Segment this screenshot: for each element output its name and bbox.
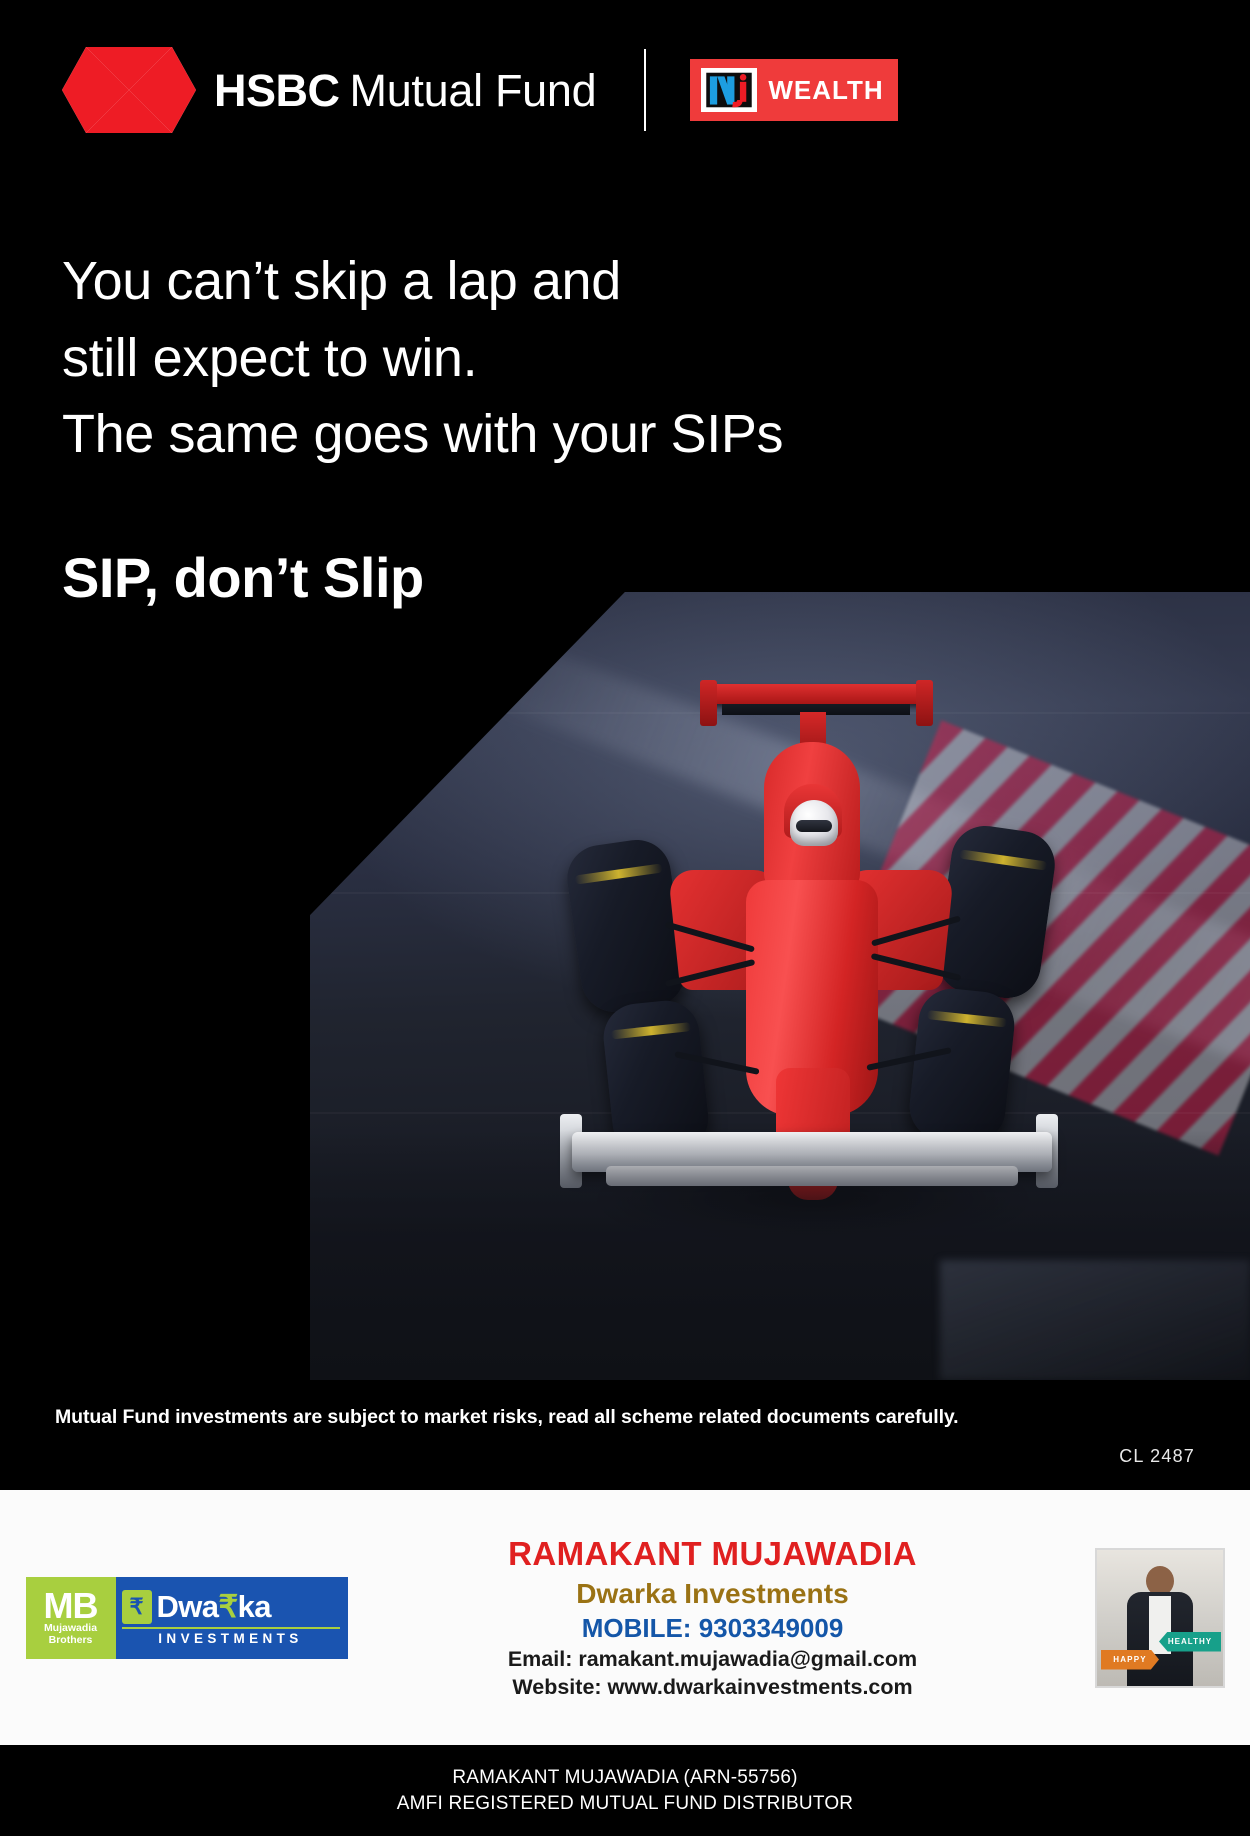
- headline-line-3: The same goes with your SIPs: [62, 396, 982, 473]
- headline-line-1: You can’t skip a lap and: [62, 243, 982, 320]
- headline-line-2: still expect to win.: [62, 320, 982, 397]
- mb-sub-line-2: Brothers: [49, 1634, 93, 1646]
- advisor-photo-slot: HAPPY HEALTHY: [1070, 1548, 1250, 1688]
- nj-wealth-logo: WEALTH: [690, 59, 897, 121]
- front-right-tyre: [906, 985, 1017, 1146]
- email-address[interactable]: Email: ramakant.mujawadia@gmail.com: [355, 1647, 1070, 1671]
- formula-one-race-car-photo: [310, 592, 1250, 1380]
- mb-sub-line-1: Mujawadia: [44, 1622, 97, 1634]
- dwarka-name-part1: Dwa: [157, 1589, 219, 1624]
- hsbc-brand-bold: HSBC: [214, 68, 340, 113]
- tagline-sip-dont-slip: SIP, don’t Slip: [62, 545, 424, 610]
- advisor-portrait-photo: HAPPY HEALTHY: [1095, 1548, 1225, 1688]
- mobile-number[interactable]: MOBILE: 9303349009: [355, 1614, 1070, 1643]
- dwarka-logo-name: Dwa₹ka: [157, 1591, 271, 1622]
- arn-registration-bar: RAMAKANT MUJAWADIA (ARN-55756) AMFI REGI…: [0, 1745, 1250, 1836]
- arn-line: RAMAKANT MUJAWADIA (ARN-55756): [452, 1767, 797, 1789]
- headline-block: You can’t skip a lap and still expect to…: [62, 243, 982, 473]
- contact-details: RAMAKANT MUJAWADIA Dwarka Investments MO…: [355, 1536, 1070, 1699]
- compliance-code: CL 2487: [1119, 1446, 1195, 1467]
- risk-disclaimer: Mutual Fund investments are subject to m…: [55, 1406, 1055, 1429]
- nj-wealth-label: WEALTH: [768, 75, 883, 106]
- healthy-signboard: HEALTHY: [1159, 1632, 1221, 1652]
- advisor-name: RAMAKANT MUJAWADIA: [355, 1536, 1070, 1573]
- hsbc-wordmark: HSBC Mutual Fund: [214, 68, 596, 113]
- hsbc-hexagon-logo: [62, 47, 196, 133]
- dwarka-logo-sub: INVESTMENTS: [122, 1627, 340, 1646]
- nj-monogram-icon: [701, 68, 757, 112]
- dwarka-name-part2: ka: [238, 1589, 271, 1624]
- brand-divider: [644, 49, 646, 131]
- mb-monogram: MB: [44, 1589, 98, 1622]
- happy-signboard: HAPPY: [1101, 1650, 1159, 1670]
- amfi-line: AMFI REGISTERED MUTUAL FUND DISTRIBUTOR: [397, 1793, 853, 1815]
- rupee-icon: ₹: [122, 1590, 152, 1624]
- rear-wing: [706, 684, 926, 704]
- hsbc-brand-light: Mutual Fund: [350, 68, 597, 113]
- hsbc-brand-group: HSBC Mutual Fund WEALTH: [62, 47, 898, 133]
- mujawadia-brothers-logo: MB Mujawadia Brothers: [26, 1577, 116, 1659]
- firm-name: Dwarka Investments: [355, 1578, 1070, 1609]
- promotional-poster: HSBC Mutual Fund WEALTH You c: [0, 0, 1250, 1836]
- footer-logo-group: MB Mujawadia Brothers ₹ Dwa₹ka INVESTMEN…: [0, 1577, 355, 1659]
- distributor-footer: MB Mujawadia Brothers ₹ Dwa₹ka INVESTMEN…: [0, 1490, 1250, 1745]
- brand-logo-bar: HSBC Mutual Fund WEALTH: [0, 0, 1250, 180]
- dwarka-name-rupee: ₹: [218, 1589, 237, 1624]
- website-url[interactable]: Website: www.dwarkainvestments.com: [355, 1675, 1070, 1699]
- dwarka-investments-logo: ₹ Dwa₹ka INVESTMENTS: [116, 1577, 348, 1659]
